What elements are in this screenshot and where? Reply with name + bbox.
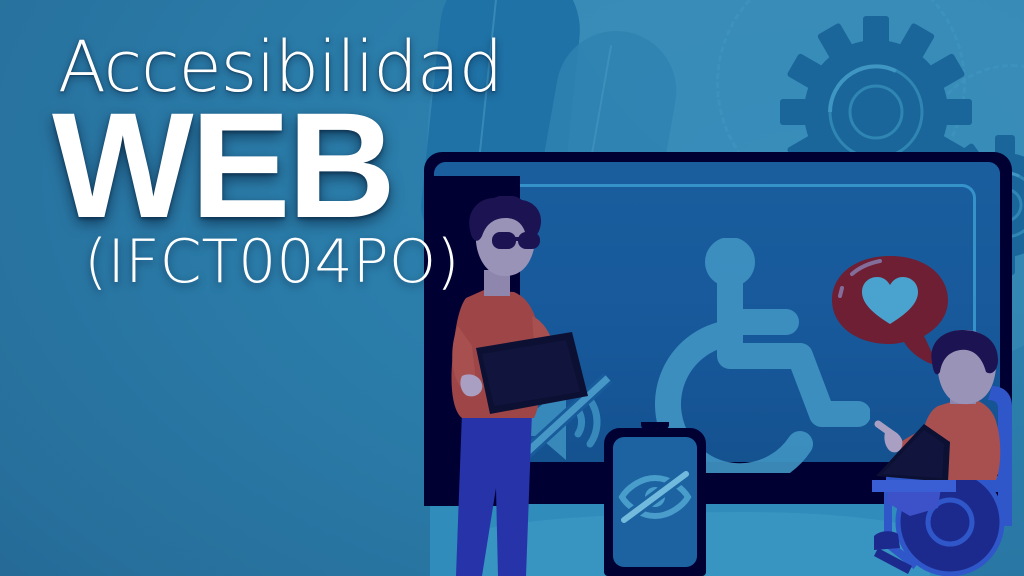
eye-slash-icon bbox=[618, 468, 692, 526]
person-in-wheelchair-with-laptop bbox=[872, 330, 1024, 576]
poster-canvas: Accesibilidad WEB (IFCT004PO) bbox=[0, 0, 1024, 576]
page-title-main: WEB bbox=[52, 96, 502, 234]
person-jeans bbox=[456, 412, 532, 576]
poster-text-block: Accesibilidad WEB (IFCT004PO) bbox=[58, 32, 502, 292]
page-title-code: (IFCT004PO) bbox=[84, 232, 502, 292]
person-chair-shoe bbox=[874, 531, 900, 550]
phone-screen bbox=[613, 437, 697, 567]
smartphone[interactable] bbox=[604, 428, 706, 576]
phone-notch bbox=[641, 422, 669, 429]
